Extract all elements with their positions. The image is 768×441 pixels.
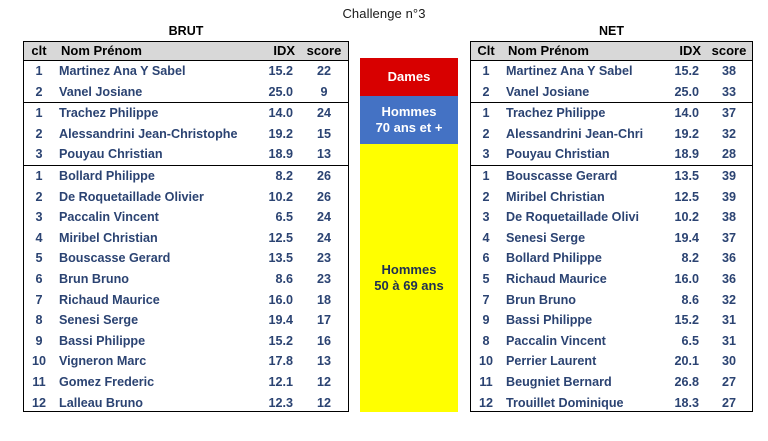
table-row: 5Richaud Maurice16.036: [471, 269, 752, 290]
net-header-row: Clt Nom Prénom IDX score: [471, 42, 752, 61]
net-cell-idx: 14.0: [659, 103, 706, 124]
net-cell-idx: 8.6: [659, 290, 706, 311]
net-table-head: Clt Nom Prénom IDX score: [471, 42, 752, 61]
brut-cell-idx: 25.0: [251, 82, 300, 103]
brut-cell-name: Miribel Christian: [54, 228, 251, 249]
table-row: 2Vanel Josiane25.09: [24, 82, 348, 103]
brut-cell-idx: 12.5: [251, 228, 300, 249]
brut-cell-idx: 15.2: [251, 61, 300, 82]
net-cell-name: De Roquetaillade Olivi: [501, 207, 659, 228]
table-row: 2Vanel Josiane25.033: [471, 82, 752, 103]
net-results-table: Clt Nom Prénom IDX score 1Martinez Ana Y…: [470, 41, 753, 412]
net-cell-clt: 12: [471, 393, 501, 413]
net-cell-clt: 2: [471, 82, 501, 103]
net-cell-name: Richaud Maurice: [501, 269, 659, 290]
net-cell-score: 32: [706, 290, 752, 311]
net-cell-idx: 18.9: [659, 144, 706, 165]
brut-cell-clt: 10: [24, 351, 54, 372]
table-row: 7Richaud Maurice16.018: [24, 290, 348, 311]
brut-cell-score: 18: [300, 290, 348, 311]
net-cell-name: Vanel Josiane: [501, 82, 659, 103]
page-title: Challenge n°3: [0, 6, 768, 21]
table-row: 1Trachez Philippe14.024: [24, 103, 348, 124]
brut-cell-name: Senesi Serge: [54, 310, 251, 331]
net-header-idx: IDX: [659, 42, 706, 61]
net-cell-clt: 6: [471, 248, 501, 269]
net-cell-score: 37: [706, 103, 752, 124]
net-cell-name: Bollard Philippe: [501, 248, 659, 269]
table-row: 1Trachez Philippe14.037: [471, 103, 752, 124]
brut-cell-score: 24: [300, 207, 348, 228]
brut-cell-score: 26: [300, 187, 348, 208]
net-cell-name: Senesi Serge: [501, 228, 659, 249]
net-table-body: 1Martinez Ana Y Sabel15.2382Vanel Josian…: [471, 61, 752, 413]
brut-table-body: 1Martinez Ana Y Sabel15.2222Vanel Josian…: [24, 61, 348, 413]
net-cell-clt: 3: [471, 207, 501, 228]
brut-cell-idx: 15.2: [251, 331, 300, 352]
brut-cell-name: Gomez Frederic: [54, 372, 251, 393]
net-cell-idx: 19.2: [659, 124, 706, 145]
brut-header-idx: IDX: [251, 42, 300, 61]
net-cell-clt: 2: [471, 187, 501, 208]
brut-cell-clt: 12: [24, 393, 54, 413]
table-row: 11Beugniet Bernard26.827: [471, 372, 752, 393]
net-cell-clt: 11: [471, 372, 501, 393]
net-cell-idx: 8.2: [659, 248, 706, 269]
net-cell-score: 38: [706, 207, 752, 228]
table-row: 1Martinez Ana Y Sabel15.222: [24, 61, 348, 82]
brut-cell-score: 22: [300, 61, 348, 82]
table-row: 6Bollard Philippe8.236: [471, 248, 752, 269]
brut-results-table: clt Nom Prénom IDX score 1Martinez Ana Y…: [23, 41, 349, 412]
category-label-dames-line1: Dames: [388, 69, 431, 85]
brut-cell-clt: 7: [24, 290, 54, 311]
net-cell-score: 27: [706, 393, 752, 413]
net-cell-score: 31: [706, 310, 752, 331]
table-row: 10Perrier Laurent20.130: [471, 351, 752, 372]
category-block-dames: Dames: [360, 58, 458, 96]
brut-cell-name: Vigneron Marc: [54, 351, 251, 372]
brut-grid: clt Nom Prénom IDX score 1Martinez Ana Y…: [24, 42, 348, 412]
table-row: 3De Roquetaillade Olivi10.238: [471, 207, 752, 228]
brut-cell-name: Bollard Philippe: [54, 165, 251, 186]
category-label-hommes70-line1: Hommes: [382, 104, 437, 120]
net-cell-idx: 18.3: [659, 393, 706, 413]
net-header-score: score: [706, 42, 752, 61]
net-cell-idx: 15.2: [659, 310, 706, 331]
net-cell-score: 31: [706, 331, 752, 352]
net-cell-name: Brun Bruno: [501, 290, 659, 311]
table-row: 5Bouscasse Gerard13.523: [24, 248, 348, 269]
brut-cell-name: Alessandrini Jean-Christophe: [54, 124, 251, 145]
category-label-hommes50-line2: 50 à 69 ans: [374, 278, 443, 294]
brut-cell-idx: 13.5: [251, 248, 300, 269]
net-cell-score: 28: [706, 144, 752, 165]
net-cell-clt: 1: [471, 165, 501, 186]
brut-cell-idx: 19.2: [251, 124, 300, 145]
category-label-hommes70-line2: 70 ans et +: [376, 120, 443, 136]
table-row: 11Gomez Frederic12.112: [24, 372, 348, 393]
table-row: 1Bouscasse Gerard13.539: [471, 165, 752, 186]
brut-cell-idx: 12.3: [251, 393, 300, 413]
brut-cell-score: 15: [300, 124, 348, 145]
table-row: 2De Roquetaillade Olivier10.226: [24, 187, 348, 208]
brut-cell-idx: 16.0: [251, 290, 300, 311]
brut-cell-name: Richaud Maurice: [54, 290, 251, 311]
brut-cell-clt: 5: [24, 248, 54, 269]
net-cell-idx: 13.5: [659, 165, 706, 186]
brut-cell-clt: 3: [24, 144, 54, 165]
net-cell-idx: 6.5: [659, 331, 706, 352]
table-row: 12Lalleau Bruno12.312: [24, 393, 348, 413]
net-cell-clt: 3: [471, 144, 501, 165]
table-row: 1Bollard Philippe8.226: [24, 165, 348, 186]
brut-cell-idx: 6.5: [251, 207, 300, 228]
brut-cell-name: Vanel Josiane: [54, 82, 251, 103]
net-cell-clt: 8: [471, 331, 501, 352]
table-row: 3Pouyau Christian18.928: [471, 144, 752, 165]
brut-cell-score: 12: [300, 372, 348, 393]
brut-cell-score: 23: [300, 269, 348, 290]
table-row: 12Trouillet Dominique18.327: [471, 393, 752, 413]
brut-cell-score: 24: [300, 228, 348, 249]
category-blocks: Dames Hommes 70 ans et + Hommes 50 à 69 …: [360, 58, 458, 412]
brut-cell-score: 13: [300, 351, 348, 372]
net-cell-clt: 5: [471, 269, 501, 290]
brut-header-score: score: [300, 42, 348, 61]
brut-cell-score: 24: [300, 103, 348, 124]
brut-cell-clt: 3: [24, 207, 54, 228]
table-row: 1Martinez Ana Y Sabel15.238: [471, 61, 752, 82]
net-cell-idx: 20.1: [659, 351, 706, 372]
net-cell-score: 37: [706, 228, 752, 249]
net-cell-name: Trachez Philippe: [501, 103, 659, 124]
table-row: 2Alessandrini Jean-Christophe19.215: [24, 124, 348, 145]
net-cell-score: 39: [706, 165, 752, 186]
table-row: 9Bassi Philippe15.231: [471, 310, 752, 331]
net-cell-name: Perrier Laurent: [501, 351, 659, 372]
brut-cell-clt: 2: [24, 187, 54, 208]
brut-cell-name: Bassi Philippe: [54, 331, 251, 352]
table-row: 3Paccalin Vincent6.524: [24, 207, 348, 228]
net-cell-clt: 10: [471, 351, 501, 372]
table-row: 6Brun Bruno8.623: [24, 269, 348, 290]
net-cell-idx: 26.8: [659, 372, 706, 393]
net-cell-name: Alessandrini Jean-Chri: [501, 124, 659, 145]
table-row: 4Senesi Serge19.437: [471, 228, 752, 249]
net-cell-score: 39: [706, 187, 752, 208]
net-cell-name: Beugniet Bernard: [501, 372, 659, 393]
net-cell-clt: 7: [471, 290, 501, 311]
net-cell-name: Paccalin Vincent: [501, 331, 659, 352]
net-cell-name: Trouillet Dominique: [501, 393, 659, 413]
table-row: 8Senesi Serge19.417: [24, 310, 348, 331]
brut-cell-clt: 6: [24, 269, 54, 290]
brut-header-name: Nom Prénom: [54, 42, 251, 61]
net-header-name: Nom Prénom: [501, 42, 659, 61]
brut-cell-name: Trachez Philippe: [54, 103, 251, 124]
brut-cell-name: Pouyau Christian: [54, 144, 251, 165]
brut-cell-name: Paccalin Vincent: [54, 207, 251, 228]
net-section-caption: NET: [470, 24, 753, 38]
net-cell-score: 30: [706, 351, 752, 372]
table-row: 3Pouyau Christian18.913: [24, 144, 348, 165]
brut-cell-name: De Roquetaillade Olivier: [54, 187, 251, 208]
brut-cell-idx: 10.2: [251, 187, 300, 208]
table-row: 8Paccalin Vincent6.531: [471, 331, 752, 352]
net-cell-score: 36: [706, 269, 752, 290]
net-cell-idx: 10.2: [659, 207, 706, 228]
brut-cell-idx: 19.4: [251, 310, 300, 331]
brut-header-row: clt Nom Prénom IDX score: [24, 42, 348, 61]
brut-cell-clt: 1: [24, 61, 54, 82]
brut-cell-clt: 9: [24, 331, 54, 352]
brut-cell-score: 12: [300, 393, 348, 413]
brut-cell-idx: 14.0: [251, 103, 300, 124]
net-header-clt: Clt: [471, 42, 501, 61]
net-cell-score: 27: [706, 372, 752, 393]
net-grid: Clt Nom Prénom IDX score 1Martinez Ana Y…: [471, 42, 752, 412]
brut-cell-clt: 2: [24, 124, 54, 145]
brut-cell-clt: 1: [24, 165, 54, 186]
brut-cell-clt: 2: [24, 82, 54, 103]
brut-cell-idx: 18.9: [251, 144, 300, 165]
brut-cell-name: Brun Bruno: [54, 269, 251, 290]
brut-cell-clt: 8: [24, 310, 54, 331]
net-cell-idx: 19.4: [659, 228, 706, 249]
net-cell-score: 33: [706, 82, 752, 103]
net-cell-clt: 1: [471, 61, 501, 82]
brut-cell-idx: 17.8: [251, 351, 300, 372]
brut-cell-score: 13: [300, 144, 348, 165]
table-row: 10Vigneron Marc17.813: [24, 351, 348, 372]
brut-cell-clt: 11: [24, 372, 54, 393]
brut-cell-score: 9: [300, 82, 348, 103]
brut-table-head: clt Nom Prénom IDX score: [24, 42, 348, 61]
brut-header-clt: clt: [24, 42, 54, 61]
brut-section-caption: BRUT: [23, 24, 349, 38]
net-cell-clt: 9: [471, 310, 501, 331]
net-cell-idx: 15.2: [659, 61, 706, 82]
brut-cell-idx: 8.2: [251, 165, 300, 186]
brut-cell-score: 17: [300, 310, 348, 331]
table-row: 9Bassi Philippe15.216: [24, 331, 348, 352]
brut-cell-score: 16: [300, 331, 348, 352]
table-row: 2Miribel Christian12.539: [471, 187, 752, 208]
net-cell-score: 36: [706, 248, 752, 269]
net-cell-name: Pouyau Christian: [501, 144, 659, 165]
net-cell-clt: 1: [471, 103, 501, 124]
challenge-results-page: Challenge n°3 BRUT NET clt Nom Prénom ID…: [0, 0, 768, 441]
net-cell-name: Bouscasse Gerard: [501, 165, 659, 186]
brut-cell-name: Martinez Ana Y Sabel: [54, 61, 251, 82]
brut-cell-name: Bouscasse Gerard: [54, 248, 251, 269]
category-label-hommes50-line1: Hommes: [382, 262, 437, 278]
brut-cell-name: Lalleau Bruno: [54, 393, 251, 413]
category-block-hommes-70: Hommes 70 ans et +: [360, 96, 458, 144]
net-cell-clt: 4: [471, 228, 501, 249]
brut-cell-score: 26: [300, 165, 348, 186]
net-cell-name: Miribel Christian: [501, 187, 659, 208]
table-row: 7Brun Bruno8.632: [471, 290, 752, 311]
table-row: 2Alessandrini Jean-Chri19.232: [471, 124, 752, 145]
net-cell-score: 32: [706, 124, 752, 145]
table-row: 4Miribel Christian12.524: [24, 228, 348, 249]
net-cell-name: Martinez Ana Y Sabel: [501, 61, 659, 82]
net-cell-idx: 12.5: [659, 187, 706, 208]
brut-cell-clt: 4: [24, 228, 54, 249]
brut-cell-score: 23: [300, 248, 348, 269]
brut-cell-idx: 12.1: [251, 372, 300, 393]
net-cell-idx: 25.0: [659, 82, 706, 103]
category-block-hommes-50: Hommes 50 à 69 ans: [360, 144, 458, 412]
brut-cell-clt: 1: [24, 103, 54, 124]
brut-cell-idx: 8.6: [251, 269, 300, 290]
net-cell-clt: 2: [471, 124, 501, 145]
net-cell-score: 38: [706, 61, 752, 82]
net-cell-idx: 16.0: [659, 269, 706, 290]
net-cell-name: Bassi Philippe: [501, 310, 659, 331]
